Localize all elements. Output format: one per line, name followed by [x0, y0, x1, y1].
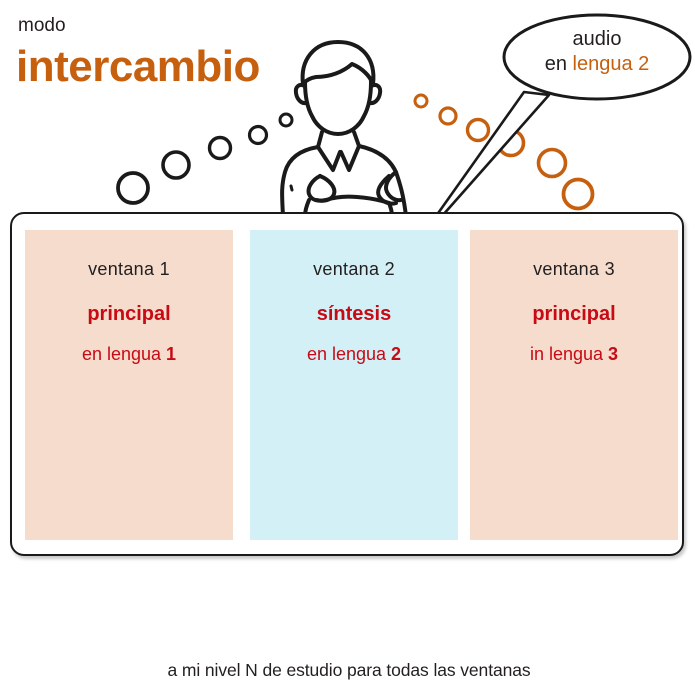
balloon-language-prefix: en	[545, 53, 573, 75]
panel-footnote: a mi nivel N de estudio para todas las v…	[12, 659, 686, 681]
window-2-role: síntesis	[250, 302, 458, 326]
balloon-line-audio: audio	[512, 27, 682, 52]
window-3-language: in lengua 3	[470, 343, 678, 365]
window-1-label: ventana 1	[25, 258, 233, 280]
window-1-language: en lengua 1	[25, 343, 233, 365]
mode-eyebrow-label: modo	[18, 15, 66, 37]
window-column-1[interactable]: ventana 1 principal en lengua 1	[25, 230, 233, 540]
window-2-language-prefix: en lengua	[307, 344, 391, 364]
windows-panel: ventana 1 principal en lengua 1 ventana …	[10, 212, 684, 556]
window-3-language-prefix: in lengua	[530, 344, 608, 364]
window-3-role: principal	[470, 302, 678, 326]
dark-circle-bubbles	[118, 114, 292, 203]
window-1-language-number: 1	[166, 344, 176, 364]
window-2-language: en lengua 2	[250, 343, 458, 365]
window-3-language-number: 3	[608, 344, 618, 364]
window-column-3[interactable]: ventana 3 principal in lengua 3	[470, 230, 678, 540]
window-3-label: ventana 3	[470, 258, 678, 280]
person-crossed-arms-icon	[282, 42, 406, 216]
window-column-2[interactable]: ventana 2 síntesis en lengua 2	[250, 230, 458, 540]
window-1-role: principal	[25, 302, 233, 326]
orange-circle-bubbles	[415, 95, 593, 209]
window-1-language-prefix: en lengua	[82, 344, 166, 364]
speech-balloon-text: audio en lengua 2	[512, 27, 682, 77]
page-title: intercambio	[16, 42, 260, 92]
window-2-label: ventana 2	[250, 258, 458, 280]
speech-balloon	[504, 15, 690, 99]
balloon-line-language: en lengua 2	[512, 52, 682, 77]
window-2-language-number: 2	[391, 344, 401, 364]
balloon-language-accent: lengua 2	[573, 53, 650, 75]
